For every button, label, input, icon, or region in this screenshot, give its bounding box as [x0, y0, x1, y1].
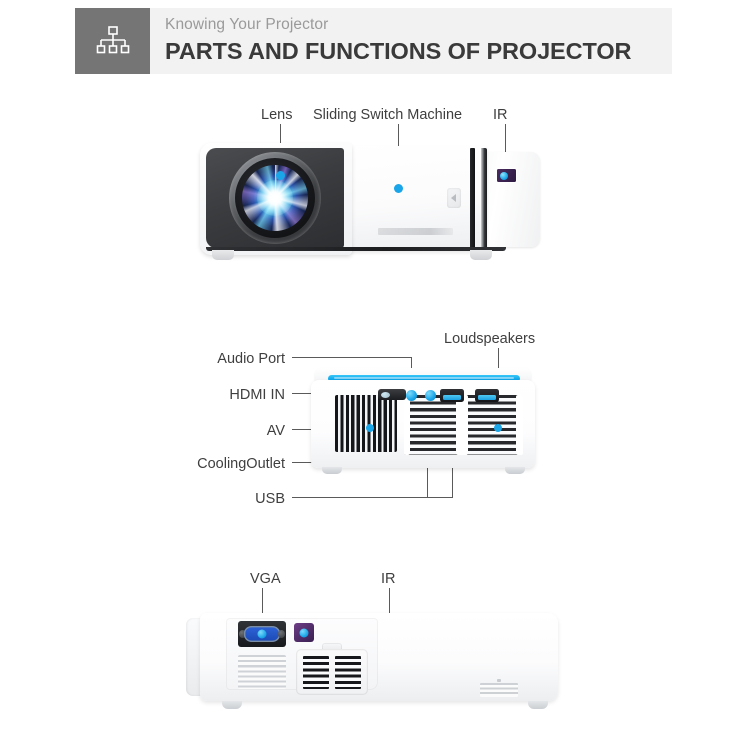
- projector-foot: [528, 701, 548, 709]
- label-av: AV: [100, 424, 285, 439]
- side-right-vent-dot: [497, 679, 501, 682]
- ir-receiver-side: [294, 623, 314, 642]
- side-right-vent: [480, 683, 518, 697]
- projector-base-shadow: [206, 247, 506, 251]
- label-lens: Lens: [261, 108, 292, 123]
- leader-usb-h: [292, 497, 453, 498]
- lamp-cover-vent-right: [335, 656, 361, 689]
- vga-port-housing: [238, 621, 286, 647]
- hdmi-in-port: [378, 389, 406, 400]
- callout-dot-loudspeakers: [494, 424, 502, 432]
- projector-side-vent-decor: [447, 188, 461, 208]
- audio-port-jack: [406, 390, 417, 401]
- av-port-jack: [425, 390, 436, 401]
- callout-dot-lens: [276, 171, 285, 180]
- projector-foot: [222, 701, 242, 709]
- grille-edge-mask: [404, 395, 410, 455]
- label-hdmi-in: HDMI IN: [100, 388, 285, 403]
- ir-receiver-front: [496, 168, 517, 183]
- grille-edge-mask: [456, 395, 468, 455]
- ir-led-indicator: [500, 172, 508, 180]
- label-sliding-switch-machine: Sliding Switch Machine: [313, 108, 462, 123]
- projector-brand-logo: [378, 228, 453, 235]
- page-root: Knowing Your Projector PARTS AND FUNCTIO…: [0, 0, 750, 750]
- label-cooling-outlet: CoolingOutlet: [100, 457, 285, 472]
- projector-foot: [505, 467, 525, 474]
- grille-edge-mask: [516, 395, 523, 455]
- lens-barrel: [235, 158, 315, 238]
- label-loudspeakers: Loudspeakers: [444, 332, 535, 347]
- vga-port: [244, 626, 280, 642]
- label-usb: USB: [100, 492, 285, 507]
- vga-screw-right: [278, 630, 285, 638]
- projector-side-view: VGA IR: [0, 560, 750, 750]
- projector-foot: [322, 467, 342, 474]
- ir-led-indicator: [300, 628, 309, 637]
- projector-body-seam: [470, 148, 475, 250]
- lamp-cover-vent-left: [303, 656, 329, 689]
- callout-dot-sliding-switch-machine: [394, 184, 403, 193]
- side-left-vent: [238, 655, 286, 689]
- lens-glass: [242, 165, 308, 231]
- label-vga: VGA: [250, 572, 281, 587]
- label-audio-port: Audio Port: [100, 352, 285, 367]
- lens-assembly: [229, 152, 321, 244]
- projector-rear-ports-view: Audio Port HDMI IN AV CoolingOutlet USB …: [0, 300, 750, 560]
- projector-front-view: Lens Sliding Switch Machine IR: [0, 0, 750, 300]
- cooling-outlet-vent: [335, 395, 397, 452]
- usb-port-2: [475, 389, 499, 402]
- projector-foot: [470, 250, 492, 260]
- label-ir: IR: [493, 108, 508, 123]
- label-ir: IR: [381, 572, 396, 587]
- usb-port-1: [440, 389, 464, 402]
- callout-dot-cooling-outlet: [366, 424, 374, 432]
- leader-audio-port-h: [292, 357, 412, 358]
- loudspeaker-grille-left: [404, 395, 462, 455]
- projector-foot: [212, 250, 234, 260]
